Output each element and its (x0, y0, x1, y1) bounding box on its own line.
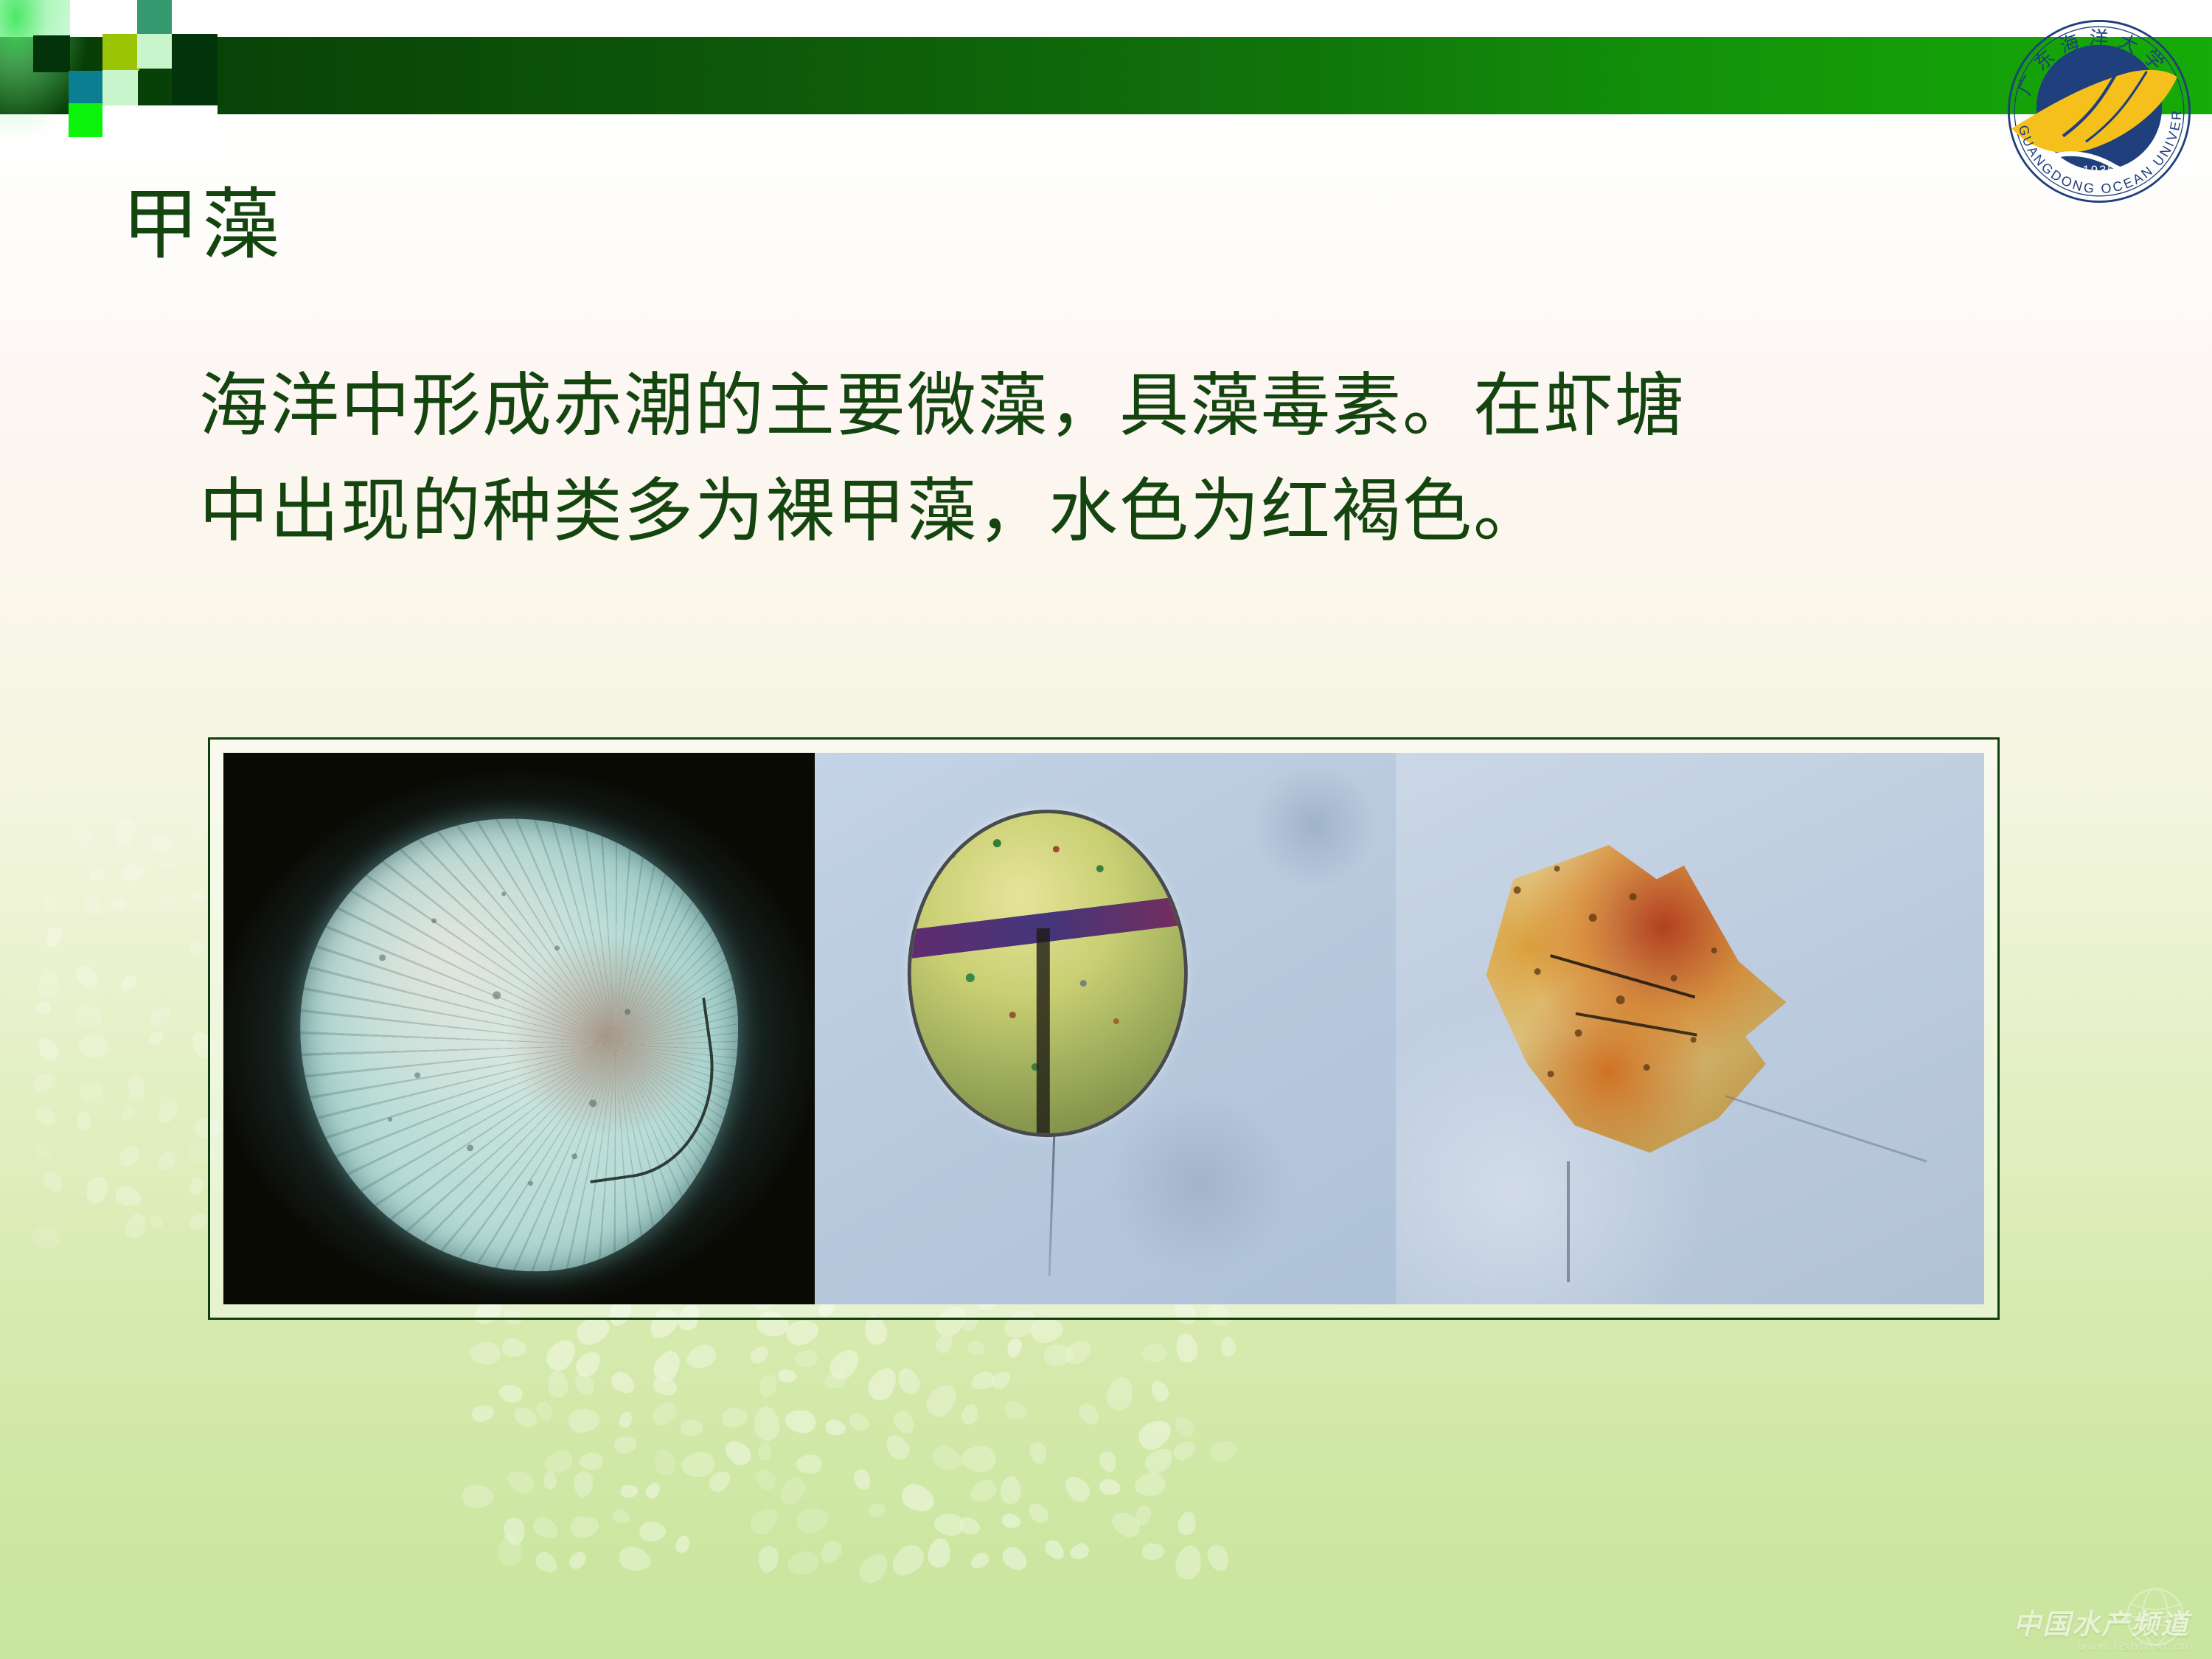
banner-mask-b (102, 0, 137, 34)
mosaic-square-olive (102, 34, 139, 71)
mosaic-square-teal (69, 71, 102, 105)
brown-groove-lower (1576, 1012, 1697, 1037)
body-paragraph: 海洋中形成赤潮的主要微藻，具藻毒素。在虾塘 中出现的种类多为裸甲藻，水色为红褐色… (199, 354, 2087, 565)
university-logo: 1935 广东海洋大学 GUANGDONG OCEAN UNIVERSITY (2004, 16, 2194, 206)
logo-year: 1935 (2082, 163, 2115, 177)
figure-dinoflagellate-armoured (815, 753, 1396, 1304)
banner-mask-d (102, 105, 218, 139)
watermark-text: 中国水产频道 (2013, 1611, 2190, 1639)
mosaic-square-dark-a (33, 35, 70, 72)
mosaic-square-sea (137, 0, 172, 35)
mosaic-square-pale-2 (102, 70, 138, 105)
top-banner (0, 37, 2212, 114)
page-title: 甲藻 (122, 183, 282, 268)
armoured-sulcus (1037, 928, 1051, 1133)
body-line-2: 中出现的种类多为裸甲藻，水色为红褐色。 (199, 459, 2087, 565)
banner-mask-a (70, 0, 102, 34)
watermark-url: www.fishfirst.cn (2013, 1641, 2190, 1653)
slide-canvas: 1935 广东海洋大学 GUANGDONG OCEAN UNIVERSITY 甲… (0, 0, 2212, 1659)
armoured-cell-body (911, 813, 1183, 1133)
banner-mask-c (172, 0, 218, 34)
body-line-1: 海洋中形成赤潮的主要微藻，具藻毒素。在虾塘 (199, 354, 2087, 459)
mosaic-square-lime (69, 103, 102, 137)
figure-strip (223, 753, 1984, 1304)
mosaic-square-dark-b (172, 34, 218, 105)
globe-icon (2124, 1585, 2187, 1649)
mosaic-square-pale-1 (137, 34, 172, 69)
brown-flagellum-vertical (1567, 1161, 1570, 1283)
figure-dinoflagellate-darkfield (223, 753, 815, 1304)
site-watermark: 中国水产频道 www.fishfirst.cn (2013, 1611, 2190, 1653)
figure-frame (208, 737, 2000, 1320)
figure-dinoflagellate-brown (1396, 753, 1984, 1304)
banner-mask-e (0, 137, 221, 159)
